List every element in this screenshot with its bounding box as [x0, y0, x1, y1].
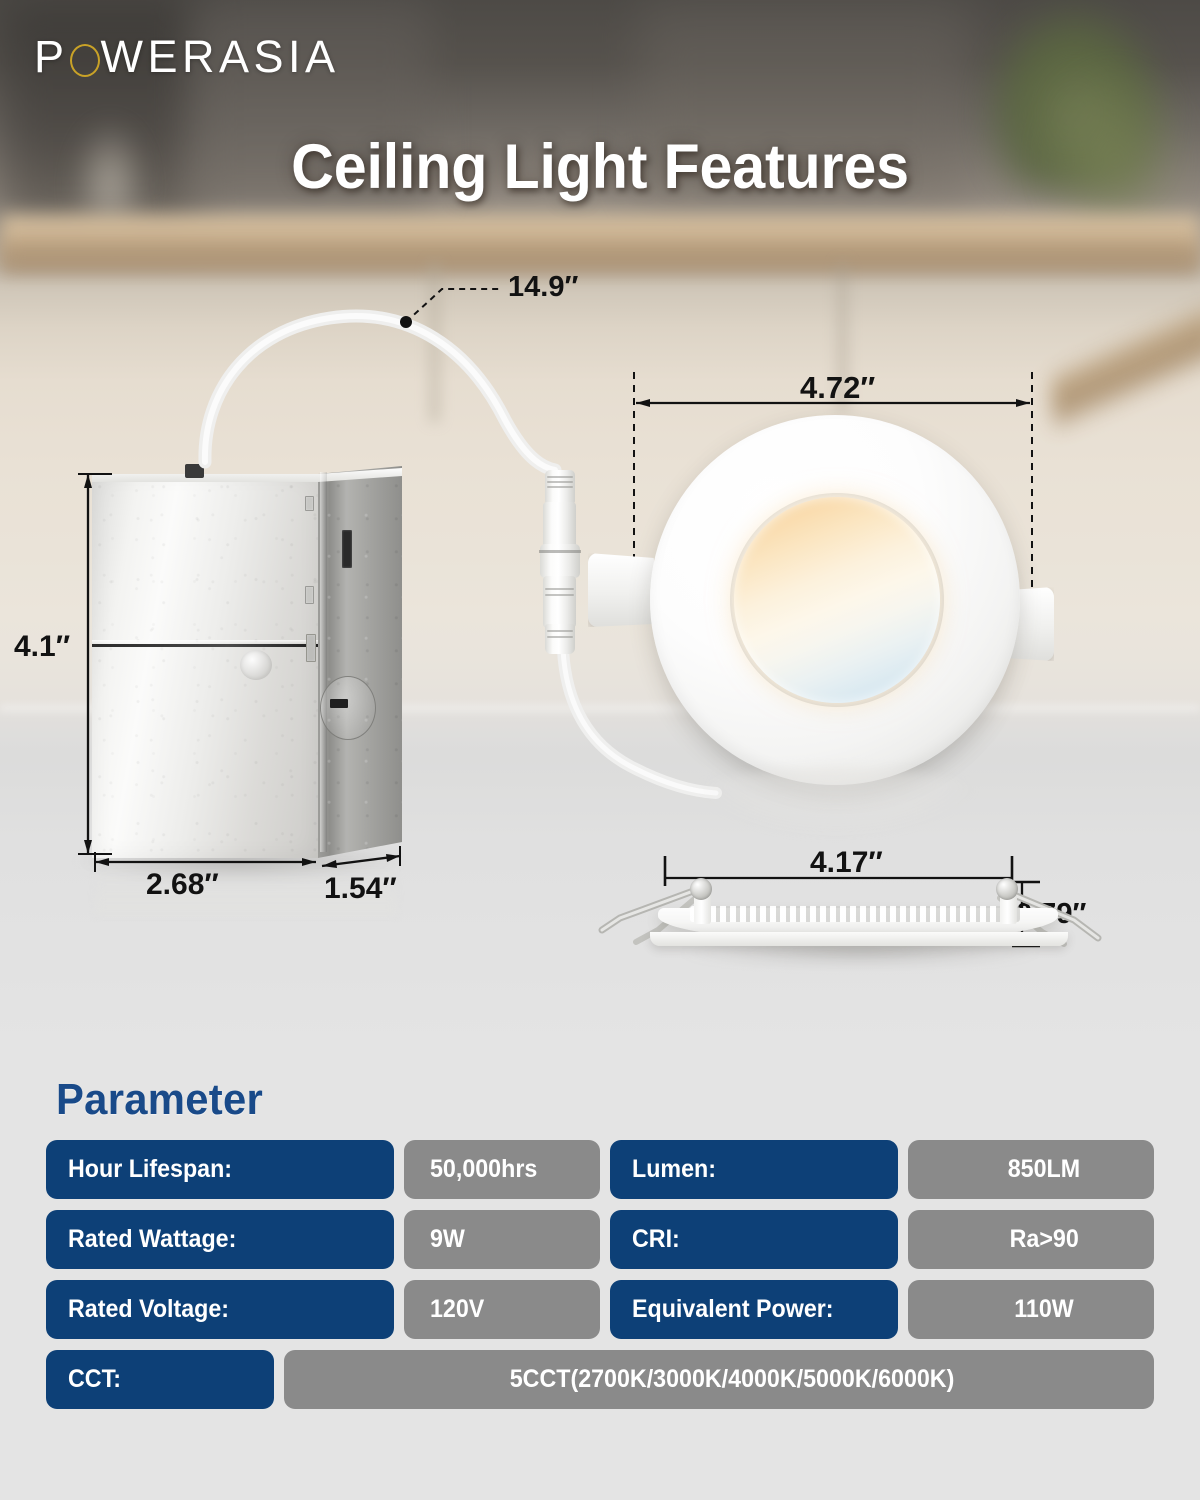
- fixture-cct-lens: [734, 497, 940, 703]
- param-label-hour-lifespan: Hour Lifespan:: [46, 1140, 394, 1199]
- dim-cable-length: 14.9″: [508, 271, 578, 304]
- param-label-cri: CRI:: [610, 1210, 898, 1269]
- param-label-lumen: Lumen:: [610, 1140, 898, 1199]
- logo-o-ring-icon: [70, 44, 100, 77]
- recessed-light-front-view: [650, 415, 1034, 799]
- profile-trim-flange: [650, 932, 1068, 946]
- dim-box-width: 2.68″: [146, 868, 219, 902]
- param-value-cct: 5CCT(2700K/3000K/4000K/5000K/6000K): [284, 1350, 1154, 1409]
- fixture-table-reflection: [686, 767, 986, 837]
- background-chair-rail: [1042, 244, 1200, 495]
- junction-box-round-knockout-slot: [330, 699, 348, 708]
- fixture-spring-clip-left: [588, 553, 654, 627]
- background-counter: [0, 215, 1200, 273]
- connector-seam-band: [539, 550, 581, 553]
- parameter-heading: Parameter: [56, 1075, 263, 1125]
- junction-box-tab-upper: [305, 496, 314, 511]
- connector-grip-rib-7: [547, 636, 573, 638]
- param-label-cct: CCT:: [46, 1350, 274, 1409]
- junction-box-knockout-slot: [342, 530, 352, 568]
- table-row: Rated Voltage: 120V Equivalent Power: 11…: [46, 1280, 1154, 1339]
- junction-box-side-panel: [318, 466, 402, 858]
- parameter-table: Hour Lifespan: 50,000hrs Lumen: 850LM Ra…: [46, 1140, 1154, 1420]
- connector-grip-rib-3: [547, 486, 573, 488]
- param-value-hour-lifespan: 50,000hrs: [404, 1140, 600, 1199]
- connector-segment-bottom: [545, 624, 575, 654]
- table-row: Hour Lifespan: 50,000hrs Lumen: 850LM: [46, 1140, 1154, 1199]
- connector-segment-upper: [543, 502, 576, 548]
- junction-box: [92, 466, 402, 858]
- junction-box-lid-seam: [92, 644, 318, 647]
- junction-box-tab-lower: [306, 634, 316, 662]
- page-title: Ceiling Light Features: [36, 131, 1164, 203]
- junction-box-cable-grommet: [185, 464, 204, 478]
- junction-box-ul-emboss: [240, 650, 272, 680]
- background-counter-edge: [0, 246, 1200, 262]
- dim-fixture-outer-diameter: 4.72″: [800, 370, 875, 406]
- parameter-panel: Parameter Hour Lifespan: 50,000hrs Lumen…: [0, 1060, 1200, 1500]
- quick-connect-connector: [537, 470, 589, 660]
- recessed-light-side-profile: [650, 860, 1070, 970]
- connector-grip-rib-2: [547, 481, 573, 483]
- logo-text-remainder: WERASIA: [101, 31, 340, 82]
- dim-box-depth: 1.54″: [324, 872, 397, 906]
- junction-box-tab-mid: [305, 586, 314, 604]
- param-label-rated-voltage: Rated Voltage:: [46, 1280, 394, 1339]
- param-label-equivalent-power: Equivalent Power:: [610, 1280, 898, 1339]
- param-value-equivalent-power: 110W: [908, 1280, 1154, 1339]
- connector-grip-rib-4: [545, 588, 574, 590]
- dim-box-height: 4.1″: [14, 630, 70, 664]
- connector-segment-lower: [543, 576, 576, 628]
- table-row-cct: CCT: 5CCT(2700K/3000K/4000K/5000K/6000K): [46, 1350, 1154, 1409]
- junction-box-front-panel: [92, 474, 318, 858]
- profile-clip-pivot-left: [690, 878, 712, 900]
- connector-grip-rib-1: [547, 476, 573, 478]
- background-table-leg-left: [430, 262, 439, 422]
- logo-letter-p: P: [34, 31, 69, 82]
- junction-box-corner-rib: [320, 472, 327, 852]
- brand-logo: PWERASIA: [34, 34, 340, 79]
- param-label-rated-wattage: Rated Wattage:: [46, 1210, 394, 1269]
- profile-heatsink-fins: [690, 906, 1020, 922]
- profile-clip-pivot-right: [996, 878, 1018, 900]
- connector-grip-rib-6: [547, 630, 573, 632]
- param-value-lumen: 850LM: [908, 1140, 1154, 1199]
- table-row: Rated Wattage: 9W CRI: Ra>90: [46, 1210, 1154, 1269]
- connector-grip-rib-5: [545, 594, 574, 596]
- param-value-cri: Ra>90: [908, 1210, 1154, 1269]
- hero-product-photo: PWERASIA Ceiling Light Features: [0, 0, 1200, 1060]
- param-value-rated-wattage: 9W: [404, 1210, 600, 1269]
- param-value-rated-voltage: 120V: [404, 1280, 600, 1339]
- junction-box-round-knockout: [320, 676, 376, 740]
